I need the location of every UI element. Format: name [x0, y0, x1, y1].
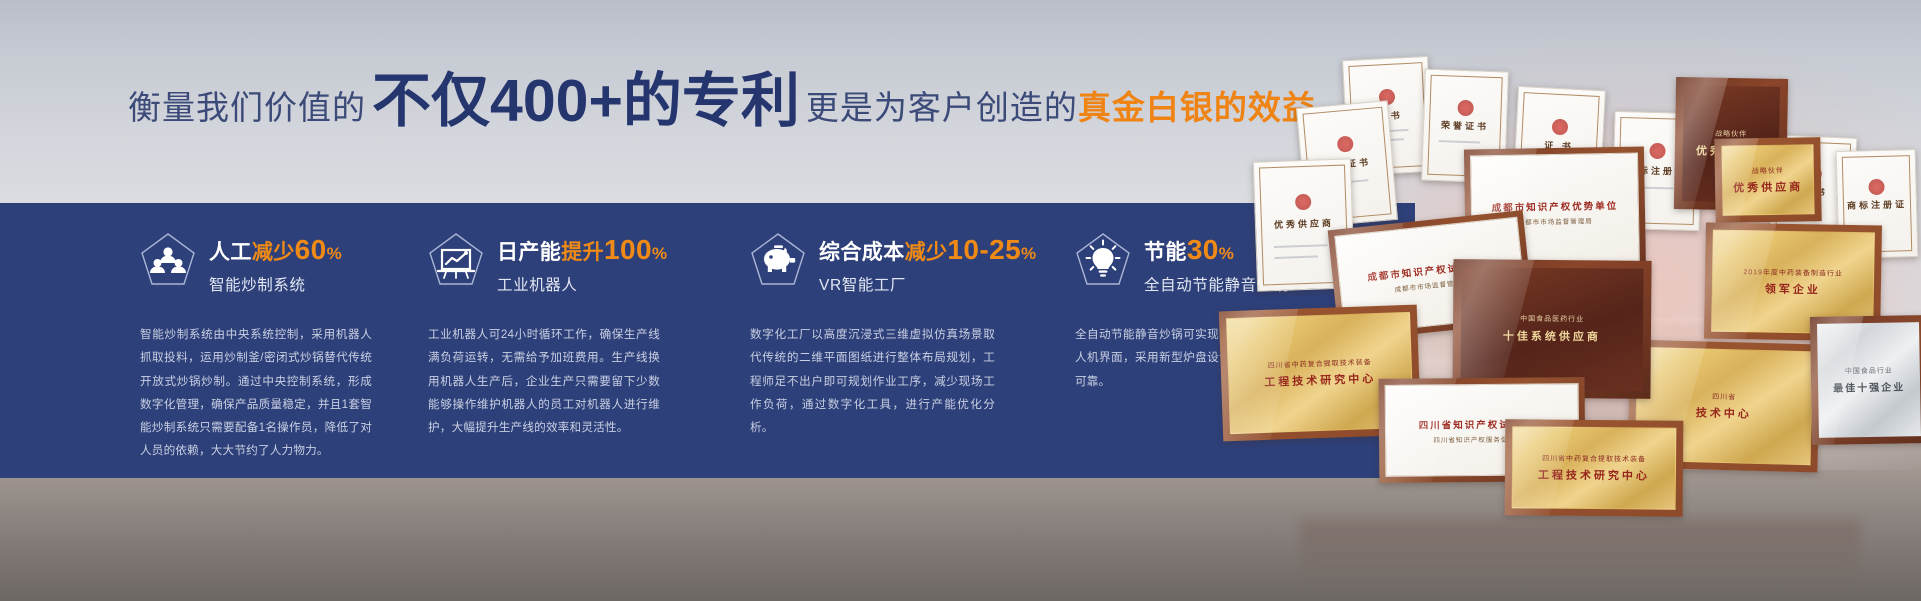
award-subtitle: 四川省中药复合提取技术装备 — [1542, 453, 1646, 464]
award-subtitle: 中国食品行业 — [1845, 366, 1893, 377]
award-subtitle: 四川省中药复合提取技术装备 — [1268, 357, 1372, 371]
feature-title-3: 综合成本减少10-25% — [819, 234, 1037, 266]
feature-title-num-1: 60 — [295, 234, 327, 265]
feature-card-1: 人工减少60% 智能炒制系统 智能炒制系统由中央系统控制，采用机器人抓取投料，运… — [0, 203, 358, 478]
award-title: 领军企业 — [1765, 280, 1821, 297]
award-title: 技术中心 — [1696, 404, 1752, 421]
headline: 衡量我们价值的 不仅400+的专利 更是为客户创造的 真金白银的效益 — [128, 72, 1316, 142]
headline-lead: 衡量我们价值的 — [128, 81, 366, 129]
people-group-icon — [140, 232, 196, 294]
feature-subtitle-2: 工业机器人 — [497, 273, 667, 295]
feature-title-num-2: 100 — [604, 234, 652, 265]
award-item: 战略伙伴 优秀供应商 — [1714, 137, 1821, 223]
feature-title-lead-2: 日产能 — [497, 241, 561, 264]
award-subtitle: 战略伙伴 — [1752, 165, 1784, 176]
feature-card-2: 日产能提升100% 工业机器人 工业机器人可24小时循环工作，确保生产线满负荷运… — [358, 203, 688, 478]
feature-body-1: 智能炒制系统由中央系统控制，采用机器人抓取投料，运用炒制釜/密闭式炒锅替代传统开… — [140, 323, 372, 462]
feature-title-hi-3: 减少 — [905, 241, 948, 264]
award-title: 工程技术研究中心 — [1538, 466, 1650, 483]
feature-title-lead-3: 综合成本 — [819, 241, 905, 264]
award-title: 优秀供应商 — [1733, 178, 1803, 195]
feature-title-num-3: 10-25 — [947, 234, 1021, 265]
awards-reflection — [1300, 520, 1860, 588]
award-subtitle: 2019年度中药装备制造行业 — [1743, 267, 1843, 279]
chart-board-icon — [428, 232, 484, 294]
feature-title-lead-4: 节能 — [1144, 241, 1187, 264]
award-subtitle: 中国食品医药行业 — [1520, 314, 1584, 325]
feature-title-hi-1: 减少 — [252, 241, 295, 264]
banner-root: 衡量我们价值的 不仅400+的专利 更是为客户创造的 真金白银的效益 — [0, 0, 1921, 601]
lightbulb-icon — [1075, 232, 1131, 294]
feature-body-3: 数字化工厂以高度沉浸式三维虚拟仿真场景取代传统的二维平面图纸进行整体布局规划，工… — [750, 323, 995, 439]
award-item: 四川省中药复合提取技术装备 工程技术研究中心 — [1505, 419, 1684, 517]
award-item: 中国食品行业 最佳十强企业 — [1810, 315, 1921, 445]
award-title: 工程技术研究中心 — [1264, 370, 1376, 390]
award-title: 商标注册证 — [1838, 197, 1916, 212]
award-title: 最佳十强企业 — [1833, 378, 1905, 394]
headline-middle: 更是为客户创造的 — [806, 81, 1078, 129]
feature-subtitle-1: 智能炒制系统 — [209, 273, 342, 295]
feature-title-pct-2: % — [652, 244, 668, 263]
award-subtitle: 成都市市场监督管理局 — [1518, 215, 1593, 226]
awards-stack: 证 书 荣誉证书 专利证书 证 书 商标注册证 证 书 — [1215, 52, 1921, 522]
feature-title-num-4: 30 — [1187, 234, 1219, 265]
feature-title-2: 日产能提升100% — [497, 234, 667, 266]
feature-panel: 人工减少60% 智能炒制系统 智能炒制系统由中央系统控制，采用机器人抓取投料，运… — [0, 203, 1415, 478]
award-title: 十佳系统供应商 — [1503, 328, 1601, 345]
feature-subtitle-3: VR智能工厂 — [819, 273, 1037, 295]
feature-title-lead-1: 人工 — [209, 241, 252, 264]
piggy-bank-icon — [750, 232, 806, 294]
headline-emphasis: 不仅400+的专利 — [372, 72, 800, 131]
feature-title-1: 人工减少60% — [209, 234, 342, 266]
feature-body-2: 工业机器人可24小时循环工作，确保生产线满负荷运转，无需给予加班费用。生产线换用… — [428, 323, 660, 439]
feature-title-pct-1: % — [327, 244, 343, 263]
feature-card-3: 综合成本减少10-25% VR智能工厂 数字化工厂以高度沉浸式三维虚拟仿真场景取… — [688, 203, 1023, 478]
award-subtitle: 四川省 — [1712, 391, 1736, 402]
feature-title-hi-2: 提升 — [561, 241, 604, 264]
